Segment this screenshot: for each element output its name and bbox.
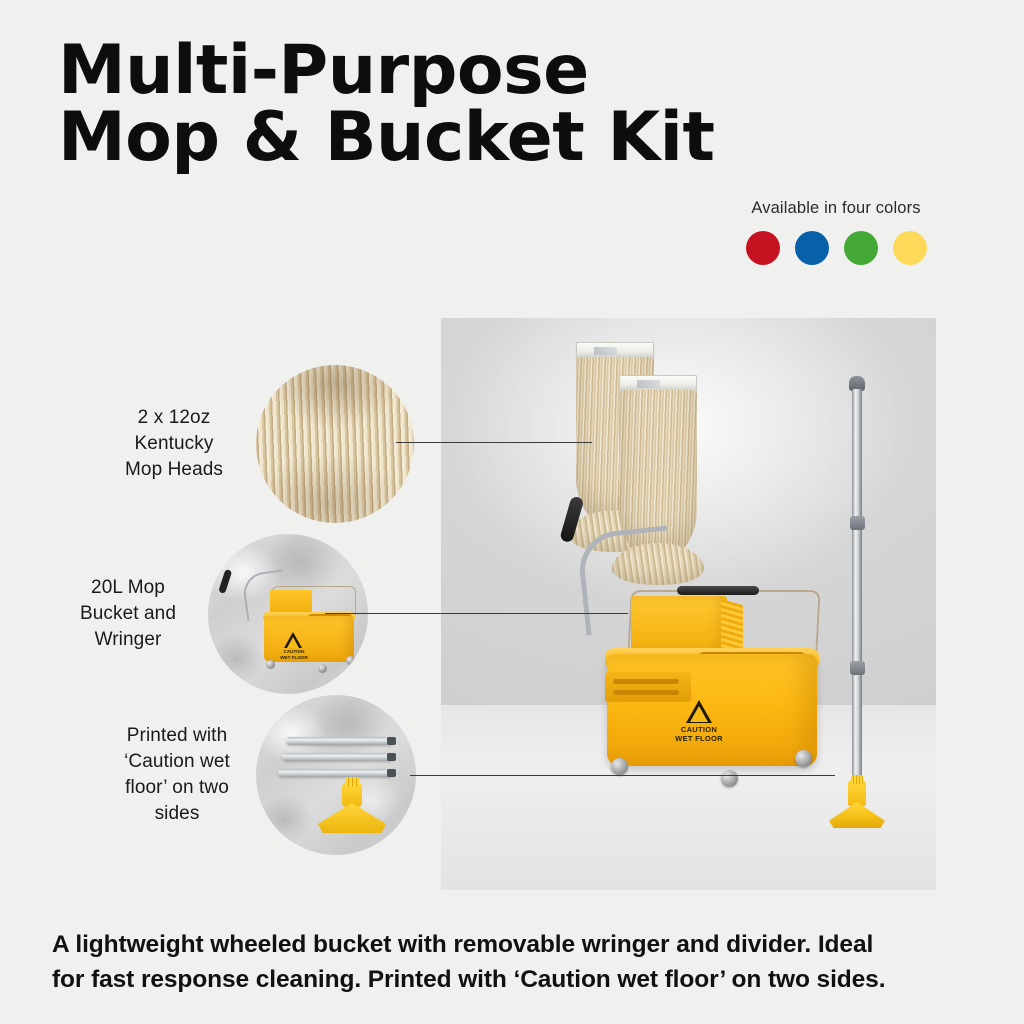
color-options: Available in four colors <box>716 199 956 265</box>
mini-caution-line-2: WET FLOOR <box>270 655 318 661</box>
feature-mop-heads-label: 2 x 12oz Kentucky Mop Heads <box>100 405 248 482</box>
color-swatch-blue[interactable] <box>795 231 829 265</box>
color-swatch-row <box>716 231 956 265</box>
mop-clamp-head <box>829 802 885 828</box>
mini-bucket-image: CAUTION WET FLOOR <box>256 578 360 672</box>
pole-collar-upper <box>850 516 865 530</box>
bucket-wheel <box>795 750 812 767</box>
feature-bucket-wringer-label: 20L Mop Bucket and Wringer <box>58 575 198 652</box>
caution-triangle-icon <box>686 700 712 723</box>
mop-head-yarn-image <box>256 365 414 523</box>
caution-line-2: WET FLOOR <box>651 734 747 743</box>
wringer-press-plate <box>605 672 691 702</box>
bucket-handle-grip <box>677 586 759 595</box>
page-title: Multi-Purpose Mop & Bucket Kit <box>58 38 798 171</box>
mini-bucket-wheel <box>346 656 355 665</box>
thumbnail-bucket-wringer[interactable]: CAUTION WET FLOOR <box>208 534 368 694</box>
feature-bucket-wringer: 20L Mop Bucket and Wringer CAUTION WET F… <box>58 534 398 694</box>
connector-line-mop-heads <box>396 442 592 443</box>
pole-section-2 <box>282 753 394 761</box>
mop-bucket-wringer: CAUTION WET FLOOR <box>589 568 839 798</box>
thumbnail-mop-head-yarn[interactable] <box>256 365 414 523</box>
pole-sections-image <box>256 695 416 855</box>
telescopic-mop-pole <box>837 376 877 866</box>
product-photo-panel: CAUTION WET FLOOR <box>441 318 936 890</box>
mini-mop-clamp-head <box>318 803 386 833</box>
mini-caution-triangle-icon <box>284 632 302 648</box>
pole-tip <box>387 769 396 777</box>
pole-tip <box>387 737 396 745</box>
feature-caution-print: Printed with ‘Caution wet floor’ on two … <box>108 695 438 855</box>
bucket-caution-print: CAUTION WET FLOOR <box>651 700 747 744</box>
mini-bucket-wheel <box>266 660 275 669</box>
bucket-wheel <box>721 770 738 787</box>
feature-caution-print-label: Printed with ‘Caution wet floor’ on two … <box>108 723 246 826</box>
color-swatch-yellow[interactable] <box>893 231 927 265</box>
color-swatch-red[interactable] <box>746 231 780 265</box>
color-swatch-green[interactable] <box>844 231 878 265</box>
thumbnail-pole-sections[interactable] <box>256 695 416 855</box>
connector-line-bucket-wringer <box>325 613 628 614</box>
mini-bucket-wheel <box>318 664 327 673</box>
feature-mop-heads: 2 x 12oz Kentucky Mop Heads <box>100 365 430 523</box>
pole-collar-lower <box>850 661 865 675</box>
pole-tip <box>387 753 396 761</box>
mini-caution-print: CAUTION WET FLOOR <box>270 649 318 660</box>
infographic-canvas: Multi-Purpose Mop & Bucket Kit Available… <box>0 0 1024 1024</box>
caution-line-1: CAUTION <box>651 725 747 734</box>
color-options-label: Available in four colors <box>716 199 956 218</box>
pole-section-3 <box>278 769 394 777</box>
pole-tube <box>852 389 862 797</box>
product-description: A lightweight wheeled bucket with remova… <box>52 928 972 998</box>
pole-section-1 <box>286 737 394 745</box>
bucket-wheel <box>611 758 628 775</box>
connector-line-caution-print <box>410 775 835 776</box>
